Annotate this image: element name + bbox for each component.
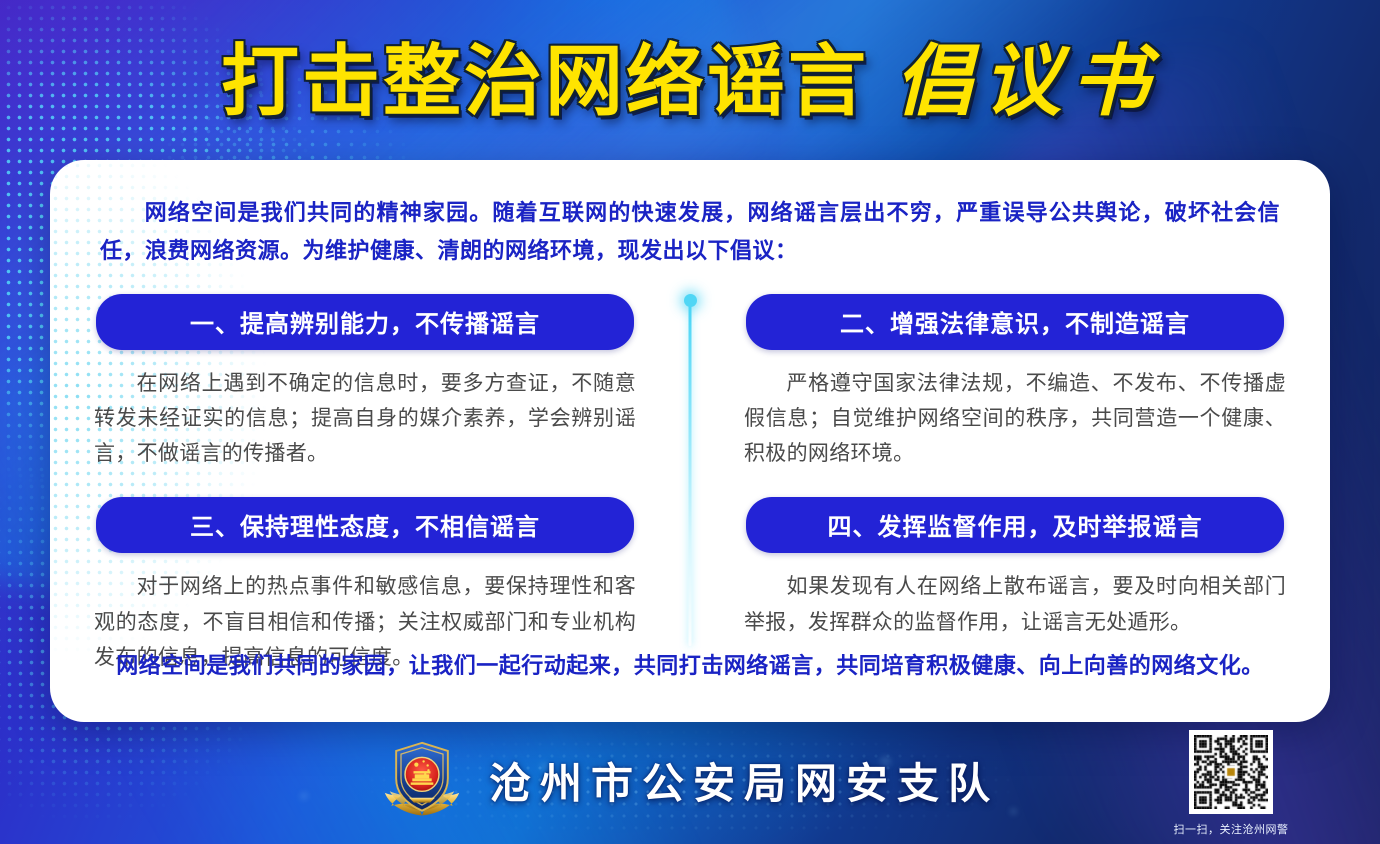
content-card: 网络空间是我们共同的精神家园。随着互联网的快速发展，网络谣言层出不穷，严重误导公… [50, 160, 1330, 722]
section-body-4: 如果发现有人在网络上散布谣言，要及时向相关部门举报，发挥群众的监督作用，让谣言无… [744, 569, 1286, 640]
sections-column-left: 一、提高辨别能力，不传播谣言 在网络上遇到不确定的信息时，要多方查证，不随意转发… [86, 294, 690, 676]
section-block-1: 一、提高辨别能力，不传播谣言 在网络上遇到不确定的信息时，要多方查证，不随意转发… [86, 294, 644, 472]
section-heading-3: 三、保持理性态度，不相信谣言 [96, 497, 634, 553]
sections-grid: 一、提高辨别能力，不传播谣言 在网络上遇到不确定的信息时，要多方查证，不随意转发… [86, 294, 1294, 676]
section-body-4-text: 如果发现有人在网络上散布谣言，要及时向相关部门举报，发挥群众的监督作用，让谣言无… [744, 575, 1286, 633]
qr-code-icon[interactable] [1189, 730, 1273, 814]
section-body-2: 严格遵守国家法律法规，不编造、不发布、不传播虚假信息；自觉维护网络空间的秩序，共… [744, 366, 1286, 472]
section-heading-1: 一、提高辨别能力，不传播谣言 [96, 294, 634, 350]
intro-paragraph: 网络空间是我们共同的精神家园。随着互联网的快速发展，网络谣言层出不穷，严重误导公… [86, 194, 1294, 270]
sections-column-right: 二、增强法律意识，不制造谣言 严格遵守国家法律法规，不编造、不发布、不传播虚假信… [690, 294, 1294, 676]
section-body-1: 在网络上遇到不确定的信息时，要多方查证，不随意转发未经证实的信息；提高自身的媒介… [94, 366, 636, 472]
qr-block: 扫一扫，关注沧州网警 [1156, 730, 1306, 837]
poster-title: 打击整治网络谣言倡议书 [0, 42, 1380, 124]
closing-slogan: 网络空间是我们共同的家园，让我们一起行动起来，共同打击网络谣言，共同培育积极健康… [50, 648, 1330, 680]
section-body-2-text: 严格遵守国家法律法规，不编造、不发布、不传播虚假信息；自觉维护网络空间的秩序，共… [744, 372, 1286, 466]
poster-footer: 沧州市公安局网安支队 扫一扫，关注沧州网警 [0, 730, 1380, 844]
section-block-4: 四、发挥监督作用，及时举报谣言 如果发现有人在网络上散布谣言，要及时向相关部门举… [736, 497, 1294, 640]
column-divider [689, 300, 692, 646]
section-block-2: 二、增强法律意识，不制造谣言 严格遵守国家法律法规，不编造、不发布、不传播虚假信… [736, 294, 1294, 472]
title-sub-text: 倡议书 [895, 37, 1159, 127]
section-heading-2: 二、增强法律意识，不制造谣言 [746, 294, 1284, 350]
organization-name: 沧州市公安局网安支队 [489, 750, 999, 811]
police-emblem-icon [381, 738, 463, 822]
section-heading-4: 四、发挥监督作用，及时举报谣言 [746, 497, 1284, 553]
poster-root: 打击整治网络谣言倡议书 网络空间是我们共同的精神家园。随着互联网的快速发展，网络… [0, 0, 1380, 844]
intro-text: 网络空间是我们共同的精神家园。随着互联网的快速发展，网络谣言层出不穷，严重误导公… [100, 200, 1280, 263]
title-main-text: 打击整治网络谣言 [221, 37, 869, 127]
section-body-1-text: 在网络上遇到不确定的信息时，要多方查证，不随意转发未经证实的信息；提高自身的媒介… [94, 372, 636, 466]
qr-caption: 扫一扫，关注沧州网警 [1156, 821, 1306, 837]
